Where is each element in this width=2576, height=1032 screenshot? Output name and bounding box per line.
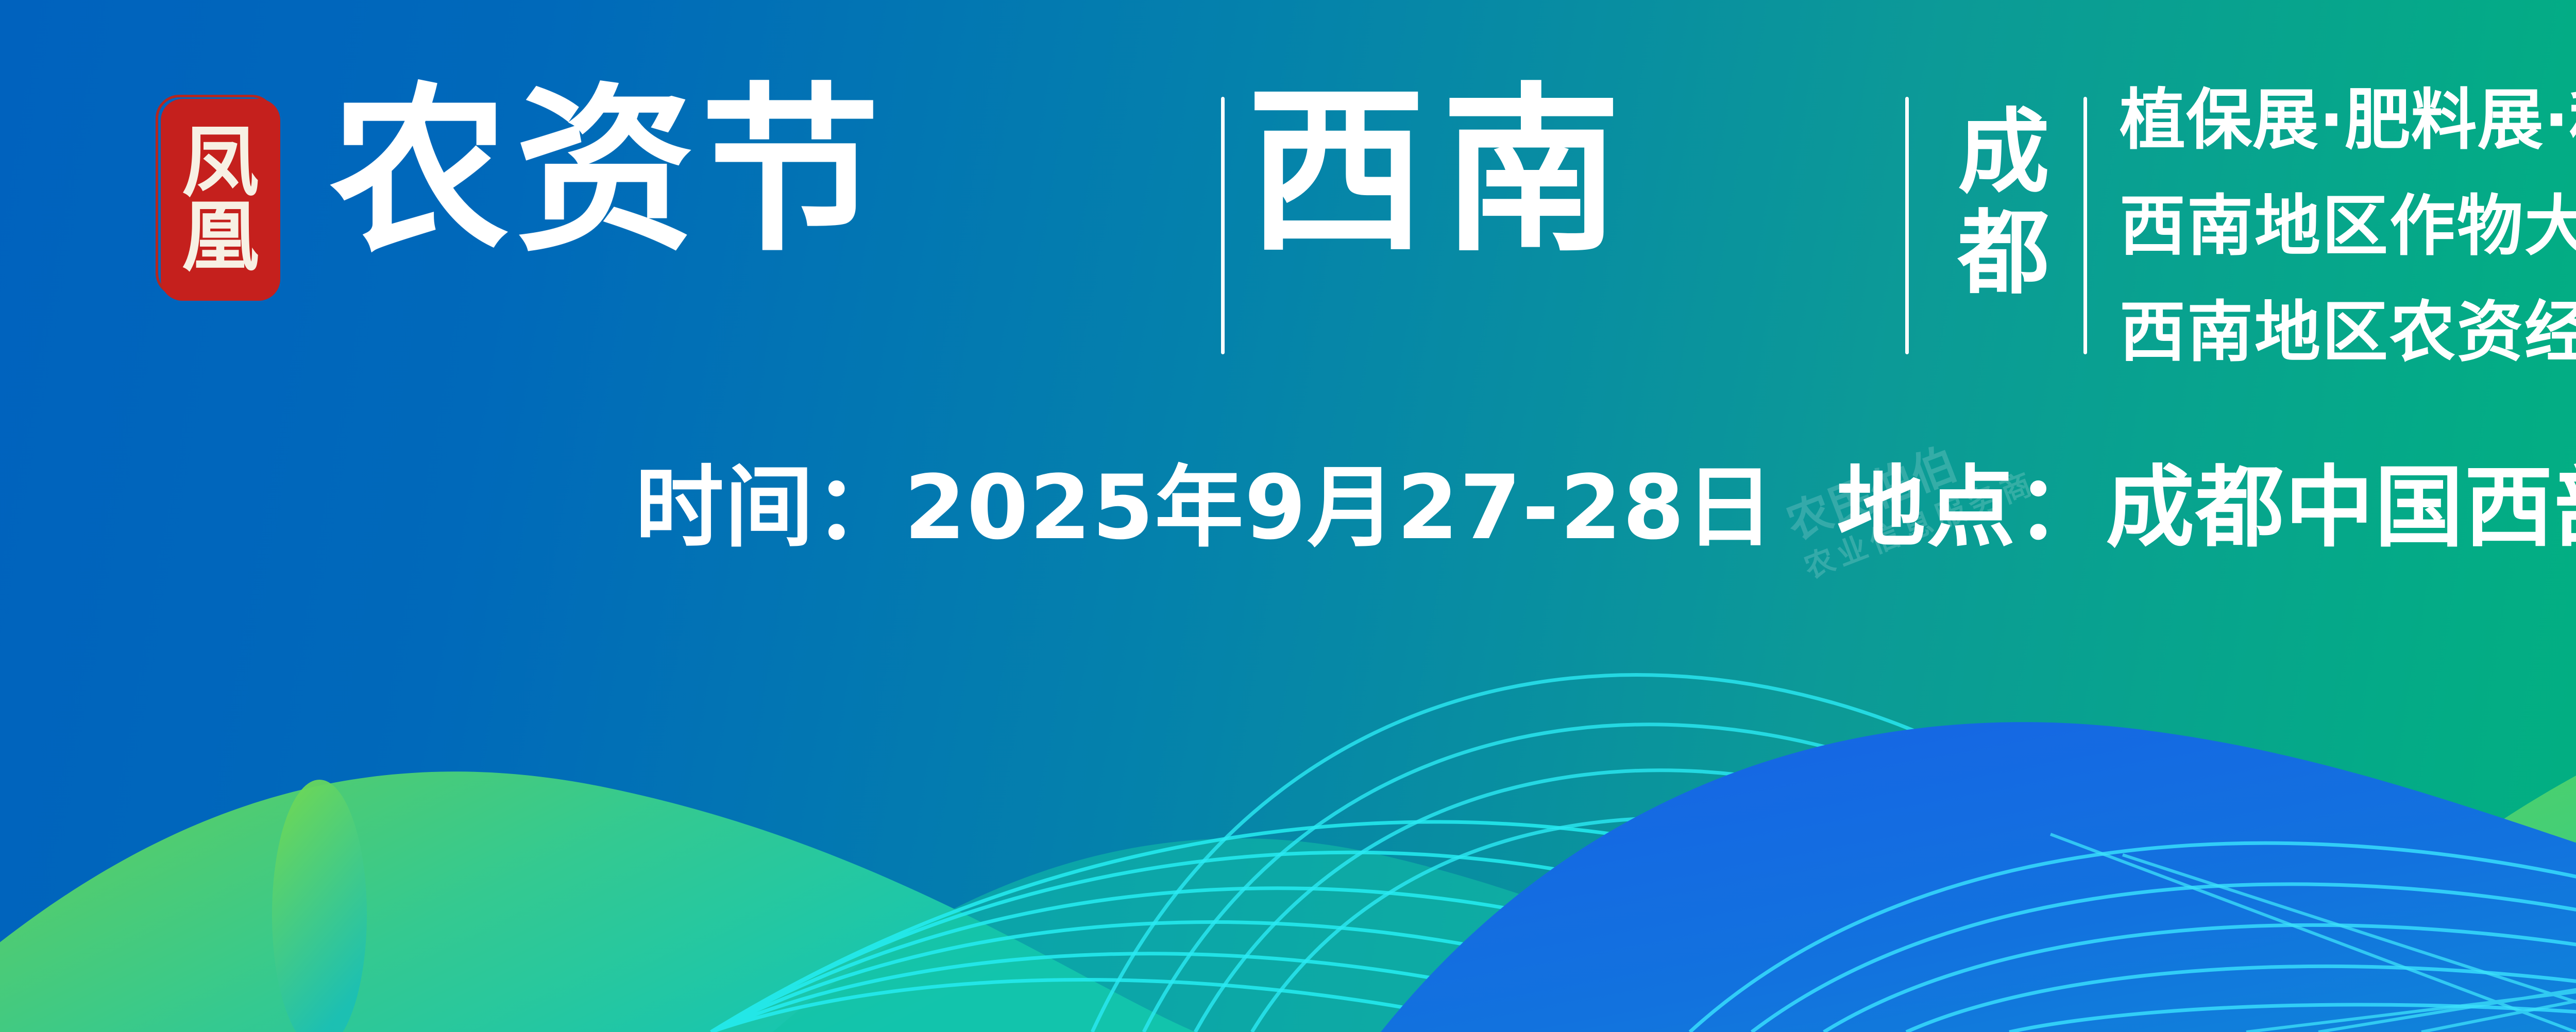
city-char-1: 成 <box>1945 102 2062 203</box>
description-line-3: 西南地区农资经销商(川/渝/云/黔)千商大会 <box>2120 300 2576 366</box>
city-label: 成 都 <box>1945 102 2062 304</box>
title-divider-2 <box>1905 97 1909 354</box>
place-value: 成都中国西部国际博览城 <box>2106 456 2576 559</box>
title-region: 西南 <box>1247 82 1636 262</box>
description-line-1: 植保展·肥料展·种子展·农用机械及植保器械展·包装展 <box>2120 88 2576 153</box>
event-details-strip: 时间：2025年9月27-28日 地点：成都中国西部国际博览城 <box>0 463 2576 552</box>
event-time: 时间：2025年9月27-28日 <box>635 463 1775 552</box>
seal-char-bottom: 凰 <box>182 201 259 276</box>
title-divider-3 <box>2083 97 2087 354</box>
place-label: 地点： <box>1837 456 2106 559</box>
time-label: 时间： <box>635 456 904 559</box>
description-block: 植保展·肥料展·种子展·农用机械及植保器械展·包装展 西南地区作物大王(柑橘/猕… <box>2120 88 2576 366</box>
phoenix-seal-logo: 凤 凰 <box>161 99 280 301</box>
city-char-2: 都 <box>1945 203 2062 304</box>
event-banner: 凤 凰 农资节 西南 成 都 植保展·肥料展·种子展·农用机械及植保器械展·包装… <box>0 0 2576 1032</box>
title-divider-1 <box>1221 97 1225 354</box>
description-line-2: 西南地区作物大王(柑橘/猕猴桃)万人峰会 <box>2120 194 2576 260</box>
seal-char-top: 凤 <box>182 126 259 201</box>
page-title: 农资节 <box>330 82 886 262</box>
seal-characters: 凤 凰 <box>161 99 280 301</box>
time-value: 2025年9月27-28日 <box>904 456 1775 559</box>
event-place: 地点：成都中国西部国际博览城 <box>1837 463 2576 552</box>
